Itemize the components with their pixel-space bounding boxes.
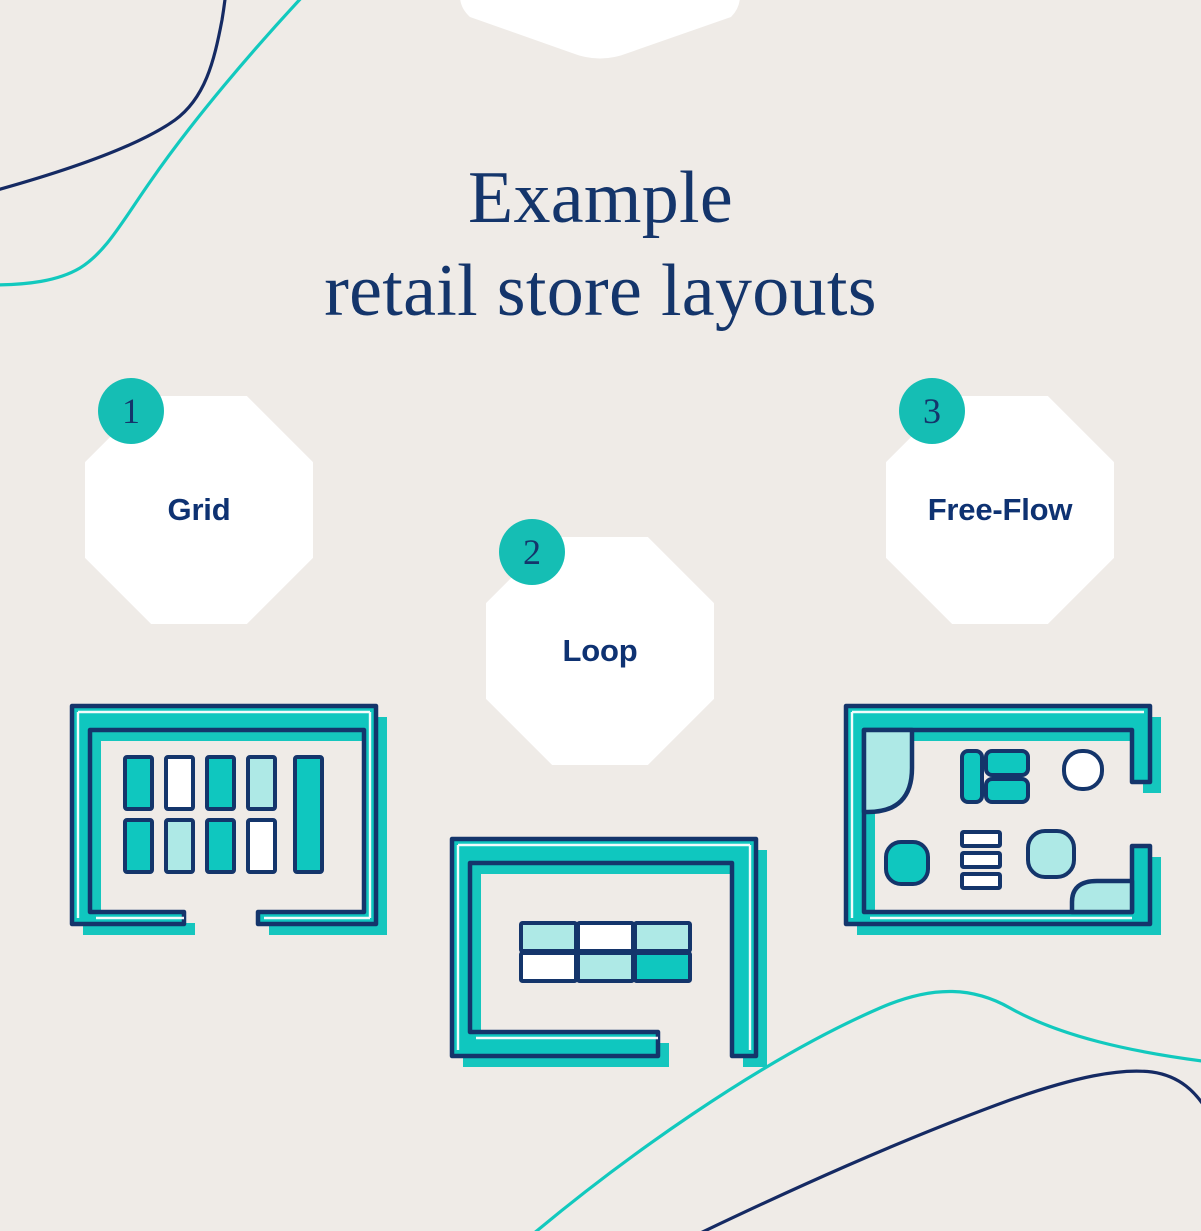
loop-island-r2-c1 bbox=[521, 953, 576, 981]
layout-badge-free-flow[interactable]: 3 Free-Flow bbox=[886, 396, 1114, 624]
free-flow-center-bar-3 bbox=[962, 874, 1000, 888]
grid-shelf-r2-c1 bbox=[125, 820, 152, 872]
free-flow-vertical-bar bbox=[962, 751, 982, 802]
free-flow-lower-left-round-fixture bbox=[886, 842, 928, 884]
layout-badge-grid[interactable]: 1 Grid bbox=[85, 396, 313, 624]
infographic-canvas: Example retail store layouts bbox=[0, 0, 1201, 1231]
loop-island-r1-c3 bbox=[635, 923, 690, 951]
badge-label-grid: Grid bbox=[85, 396, 313, 624]
page-title-line-2: retail store layouts bbox=[0, 245, 1201, 338]
badge-label-loop: Loop bbox=[486, 537, 714, 765]
grid-shelf-r2-c2 bbox=[166, 820, 193, 872]
loop-layout-diagram bbox=[452, 839, 767, 1067]
loop-island-r2-c3 bbox=[635, 953, 690, 981]
free-flow-layout-diagram bbox=[846, 706, 1161, 935]
free-flow-bottom-right-block bbox=[1072, 881, 1132, 912]
page-title-line-1: Example bbox=[0, 152, 1201, 245]
free-flow-upper-stack-bottom bbox=[986, 779, 1028, 802]
grid-shelf-tall bbox=[295, 757, 322, 872]
loop-island-r2-c2 bbox=[578, 953, 633, 981]
loop-island-r1-c1 bbox=[521, 923, 576, 951]
grid-shelves-row-1 bbox=[125, 757, 275, 809]
free-flow-upper-right-round-fixture bbox=[1064, 751, 1102, 789]
loop-island-r1-c2 bbox=[578, 923, 633, 951]
free-flow-upper-stack-top bbox=[986, 751, 1028, 775]
free-flow-lower-right-round-fixture bbox=[1028, 831, 1074, 877]
grid-shelf-r2-c3 bbox=[207, 820, 234, 872]
free-flow-center-bar-2 bbox=[962, 853, 1000, 867]
grid-shelf-r1-c4 bbox=[248, 757, 275, 809]
page-title: Example retail store layouts bbox=[0, 152, 1201, 338]
grid-shelf-r1-c2 bbox=[166, 757, 193, 809]
grid-shelf-r1-c3 bbox=[207, 757, 234, 809]
loop-island-fixtures bbox=[521, 923, 690, 981]
grid-shelf-r1-c1 bbox=[125, 757, 152, 809]
grid-shelves-row-2 bbox=[125, 820, 275, 872]
layout-badge-loop[interactable]: 2 Loop bbox=[486, 537, 714, 765]
grid-shelf-r2-c4 bbox=[248, 820, 275, 872]
badge-label-free-flow: Free-Flow bbox=[886, 396, 1114, 624]
free-flow-center-bar-1 bbox=[962, 832, 1000, 846]
free-flow-left-wall-block bbox=[864, 730, 912, 812]
grid-layout-diagram bbox=[72, 706, 387, 935]
grid-wall-highlight bbox=[78, 712, 370, 918]
